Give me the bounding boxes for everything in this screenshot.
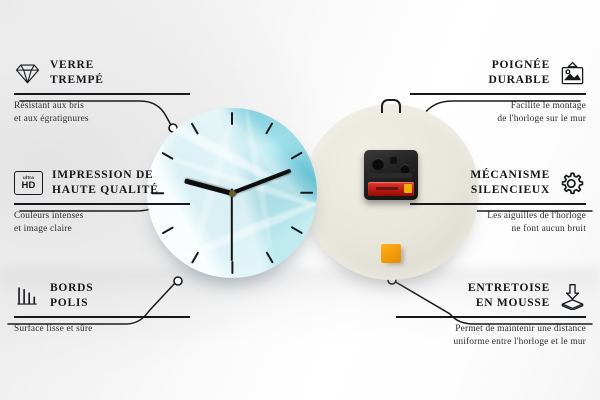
feature-heading: MÉCANISME SILENCIEUX: [410, 168, 586, 198]
feature-title: MÉCANISME SILENCIEUX: [470, 168, 550, 198]
feature-title-line2: POLIS: [50, 296, 93, 311]
feature-subtitle: Surface lisse et sûre: [14, 323, 190, 336]
feature-subtitle-line1: Résistant aux bris: [14, 100, 190, 113]
feature-mecanisme-silencieux: MÉCANISME SILENCIEUX Les aiguilles de l'…: [410, 168, 586, 236]
clock-tick-2: [290, 151, 302, 160]
feature-divider: [14, 316, 190, 317]
feature-subtitle-line1: Couleurs intenses: [14, 210, 190, 223]
feature-divider: [410, 203, 586, 204]
feature-divider: [14, 93, 190, 94]
feature-title-line1: MÉCANISME: [470, 168, 550, 183]
feature-title-line1: VERRE: [50, 58, 104, 73]
foam-spacer: [381, 244, 401, 263]
feature-title-line2: DURABLE: [489, 73, 550, 88]
feature-title: IMPRESSION DE HAUTE QUALITÉ: [52, 168, 159, 198]
feature-heading: VERRE TREMPÉ: [14, 58, 190, 88]
feature-divider: [396, 316, 586, 317]
feature-title-line1: POIGNÉE: [489, 58, 550, 73]
feature-entretoise-mousse: ENTRETOISE EN MOUSSE Permet de maintenir…: [396, 281, 586, 349]
clock-tick-6: [231, 261, 233, 274]
feature-title-line1: ENTRETOISE: [468, 281, 550, 296]
hanger-tab-icon: [381, 99, 401, 113]
feature-title-line2: EN MOUSSE: [468, 296, 550, 311]
feature-subtitle: Facilite le montage de l'horloge sur le …: [410, 100, 586, 127]
feature-title-line2: HAUTE QUALITÉ: [52, 183, 159, 198]
feature-subtitle-line1: Permet de maintenir une distance: [396, 323, 586, 336]
feature-verre-trempe: VERRE TREMPÉ Résistant aux bris et aux é…: [14, 58, 190, 126]
feature-title-line1: IMPRESSION DE: [52, 168, 159, 183]
feature-title-line2: TREMPÉ: [50, 73, 104, 88]
picture-hanger-icon: [559, 60, 586, 87]
feature-subtitle: Résistant aux bris et aux égratignures: [14, 100, 190, 127]
feature-subtitle: Couleurs intenses et image claire: [14, 210, 190, 237]
feature-subtitle-line1: Facilite le montage: [410, 100, 586, 113]
clock-tick-5: [265, 251, 274, 263]
battery: [368, 182, 414, 196]
feature-title-line2: SILENCIEUX: [470, 183, 550, 198]
feature-subtitle-line2: et aux égratignures: [14, 113, 190, 126]
infographic-canvas: VERRE TREMPÉ Résistant aux bris et aux é…: [0, 0, 600, 400]
feature-divider: [410, 93, 586, 94]
feature-title: POIGNÉE DURABLE: [489, 58, 550, 88]
gear-icon: [559, 170, 586, 197]
feature-impression-hd: ultra HD IMPRESSION DE HAUTE QUALITÉ Cou…: [14, 168, 190, 236]
feature-title: ENTRETOISE EN MOUSSE: [468, 281, 550, 311]
feature-title-line1: BORDS: [50, 281, 93, 296]
feature-subtitle: Permet de maintenir une distance uniform…: [396, 323, 586, 350]
feature-divider: [14, 203, 190, 204]
mechanism-knob: [372, 158, 384, 170]
clock-tick-3: [300, 192, 313, 194]
feature-subtitle: Les aiguilles de l'horloge ne font aucun…: [410, 210, 586, 237]
diamond-icon: [14, 60, 41, 87]
feature-heading: ultra HD IMPRESSION DE HAUTE QUALITÉ: [14, 168, 190, 198]
feature-subtitle-line1: Les aiguilles de l'horloge: [410, 210, 586, 223]
feature-heading: POIGNÉE DURABLE: [410, 58, 586, 88]
clock-center-pin: [229, 190, 236, 197]
polished-edges-icon: [14, 283, 41, 310]
feature-subtitle-line2: et image claire: [14, 223, 190, 236]
foam-spacer-icon: [559, 283, 586, 310]
mechanism-strip: [368, 173, 412, 178]
feature-subtitle-line2: de l'horloge sur le mur: [410, 113, 586, 126]
feature-subtitle-line2: uniforme entre l'horloge et le mur: [396, 336, 586, 349]
ultra-hd-icon: ultra HD: [14, 171, 43, 195]
clock-tick-4: [290, 226, 302, 235]
ultra-hd-icon-main-label: HD: [21, 181, 35, 191]
mechanism-switch: [390, 157, 397, 164]
clock-tick-1: [265, 122, 274, 134]
feature-heading: ENTRETOISE EN MOUSSE: [396, 281, 586, 311]
clock-tick-12: [231, 112, 233, 125]
feature-bords-polis: BORDS POLIS Surface lisse et sûre: [14, 281, 190, 336]
battery-band: [376, 187, 398, 190]
feature-subtitle-line1: Surface lisse et sûre: [14, 323, 190, 336]
feature-heading: BORDS POLIS: [14, 281, 190, 311]
clock-second-hand: [231, 189, 233, 261]
feature-title: BORDS POLIS: [50, 281, 93, 311]
feature-title: VERRE TREMPÉ: [50, 58, 104, 88]
feature-subtitle-line2: ne font aucun bruit: [410, 223, 586, 236]
feature-poignee-durable: POIGNÉE DURABLE Facilite le montage de l…: [410, 58, 586, 126]
